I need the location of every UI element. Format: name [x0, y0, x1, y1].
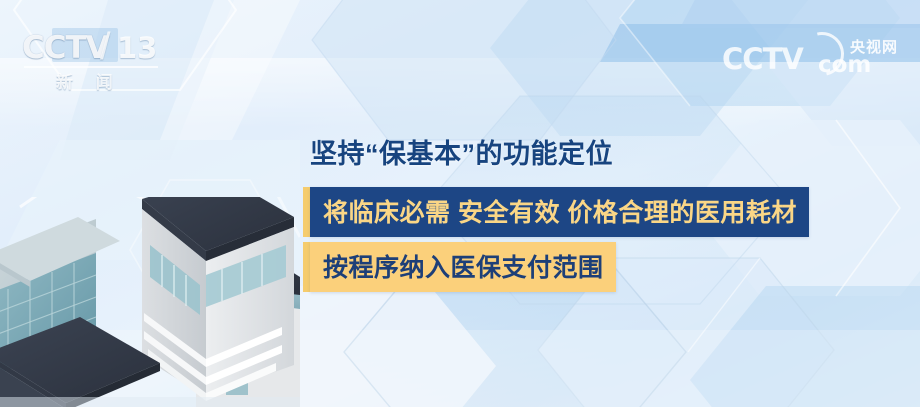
lower-third-text-block: 坚持“保基本”的功能定位 将临床必需 安全有效 价格合理的医用耗材 按程序纳入医…	[303, 132, 903, 297]
highlight-text-1: 将临床必需 安全有效 价格合理的医用耗材	[310, 187, 809, 237]
hospital-building-illustration	[0, 197, 300, 407]
highlight-text-2: 按程序纳入医保支付范围	[310, 242, 616, 292]
highlight-accent-bar-1	[303, 187, 310, 237]
highlight-accent-bar-2	[303, 242, 310, 292]
graphic-headline: 坚持“保基本”的功能定位	[310, 132, 903, 171]
highlight-row-2: 按程序纳入医保支付范围	[303, 242, 903, 292]
highlight-row-1: 将临床必需 安全有效 价格合理的医用耗材	[303, 187, 903, 237]
broadcast-news-graphic: CCTV / 13 新 闻 CCTV com 央视网 坚持“保基本”的功能定位 …	[0, 0, 920, 407]
